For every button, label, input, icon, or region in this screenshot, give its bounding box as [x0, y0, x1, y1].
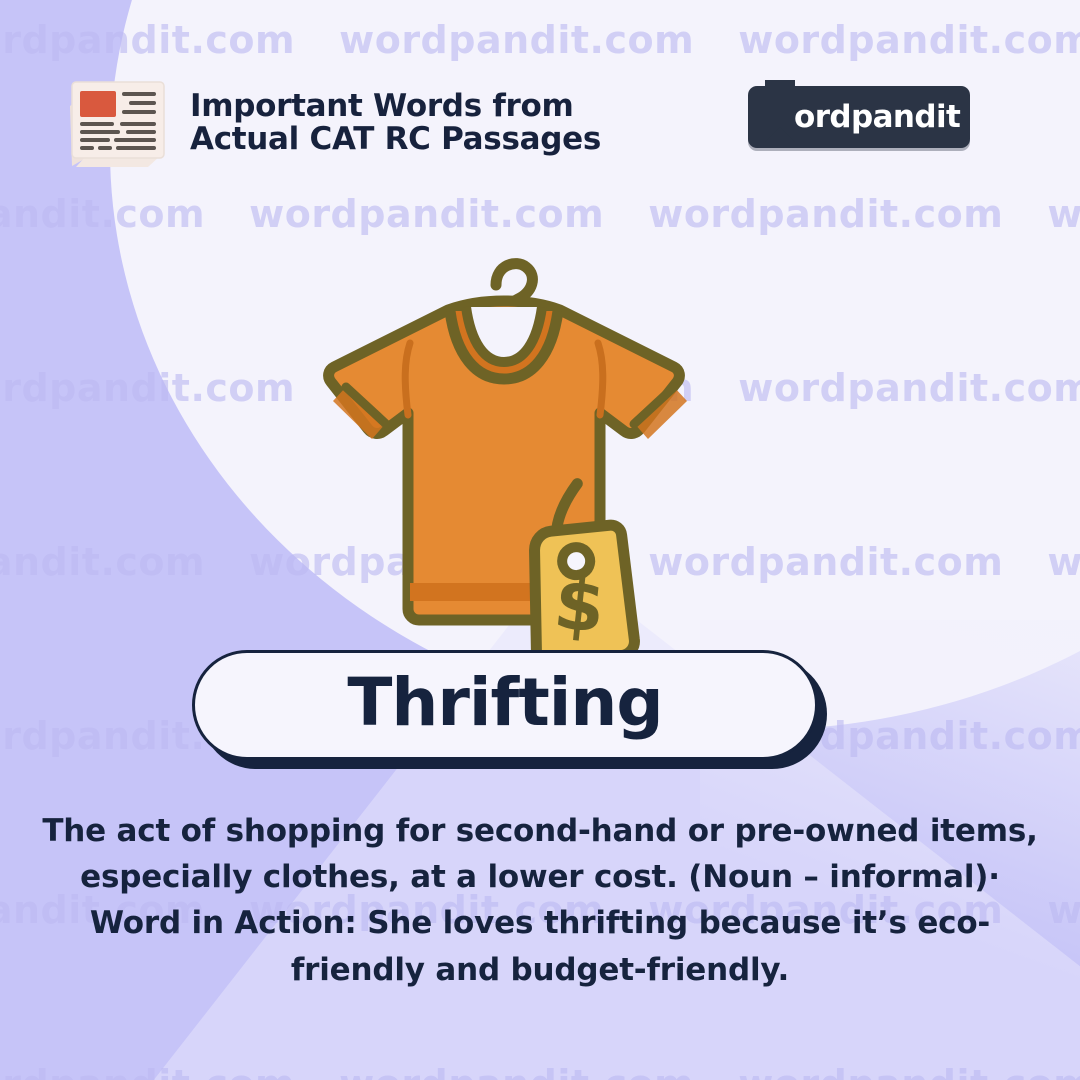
- definition-text: The act of shopping for second-hand or p…: [34, 808, 1046, 993]
- newspaper-icon: [56, 72, 174, 168]
- poster-canvas: wordpandit.comwordpandit.comwordpandit.c…: [0, 0, 1080, 1080]
- page-title-line-2: Actual CAT RC Passages: [190, 123, 601, 156]
- word-label: Thrifting: [347, 670, 662, 736]
- page-title-line-1: Important Words from: [190, 90, 601, 123]
- watermark-text: wordpandit.com: [0, 540, 205, 584]
- tshirt-shape: [329, 301, 687, 620]
- page-title: Important Words from Actual CAT RC Passa…: [190, 90, 601, 156]
- word-card[interactable]: Thrifting: [192, 650, 818, 760]
- logo-label: ordpandit: [794, 86, 960, 148]
- wordpandit-logo[interactable]: ordpandit: [748, 86, 970, 148]
- tshirt-illustration: $: [300, 215, 720, 665]
- word-card-body[interactable]: Thrifting: [192, 650, 818, 760]
- svg-text:$: $: [550, 561, 609, 650]
- header: Important Words from Actual CAT RC Passa…: [0, 0, 1080, 190]
